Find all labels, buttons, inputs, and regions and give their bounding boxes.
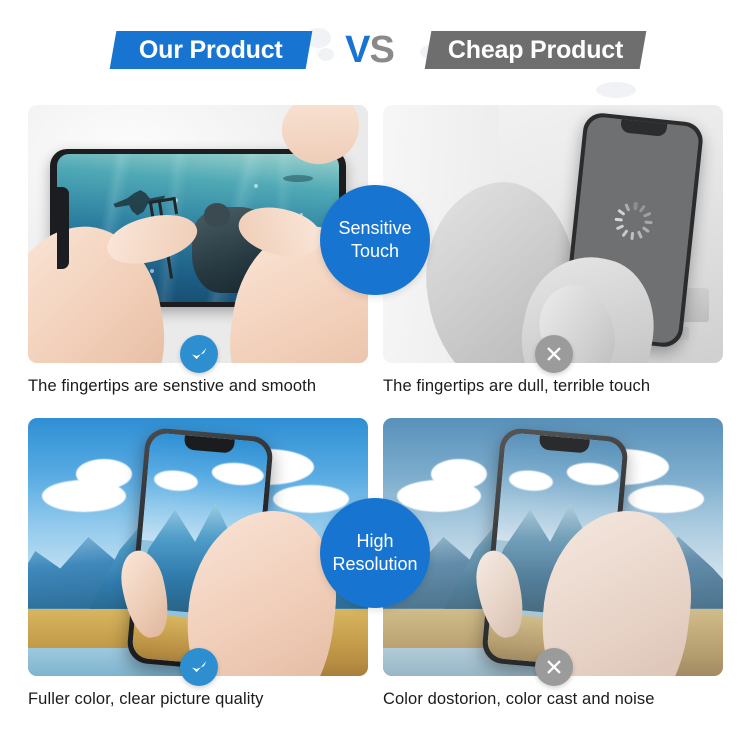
vs-letter-v: V [345,29,369,71]
cloud [273,485,349,513]
check-icon [180,335,218,373]
cloud [431,459,487,489]
vs-letter-s: S [370,29,394,71]
cheap-product-badge: Cheap Product [425,31,647,69]
photo-high-resolution-good [28,418,368,676]
caption-top-right: The fingertips are dull, terrible touch [383,377,723,396]
our-product-label: Our Product [139,36,283,65]
photo-sensitive-touch-good [28,105,368,363]
caption-top-left: The fingertips are senstive and smooth [28,377,368,396]
photo-sensitive-touch-bad [383,105,723,363]
cross-icon [535,335,573,373]
phone-notch [57,187,69,270]
comparison-grid: The fingertips are senstive and smooth [0,100,750,750]
vs-separator: VS [345,31,394,69]
photo-high-resolution-bad [383,418,723,676]
feature-line-1: Sensitive [338,217,411,240]
check-icon [180,648,218,686]
decor-blob [596,82,636,98]
our-product-badge: Our Product [110,31,313,69]
feature-badge-high-resolution: High Resolution [320,498,430,608]
feature-line-1: High [356,530,393,553]
cheap-product-label: Cheap Product [448,36,623,65]
phone-notch [620,119,667,137]
fish-silhouette [283,175,313,182]
decor-blob [318,48,334,61]
diver-helmet [204,203,230,227]
loading-spinner-icon [613,200,655,242]
feature-badge-sensitive-touch: Sensitive Touch [320,185,430,295]
caption-bottom-left: Fuller color, clear picture quality [28,690,368,709]
feature-line-2: Resolution [332,553,417,576]
cross-icon [535,648,573,686]
header-banner: Our Product VS Cheap Product [0,0,750,100]
cloud [76,459,132,489]
cloud [628,485,704,513]
feature-line-2: Touch [351,240,399,263]
caption-bottom-right: Color dostorion, color cast and noise [383,690,723,709]
